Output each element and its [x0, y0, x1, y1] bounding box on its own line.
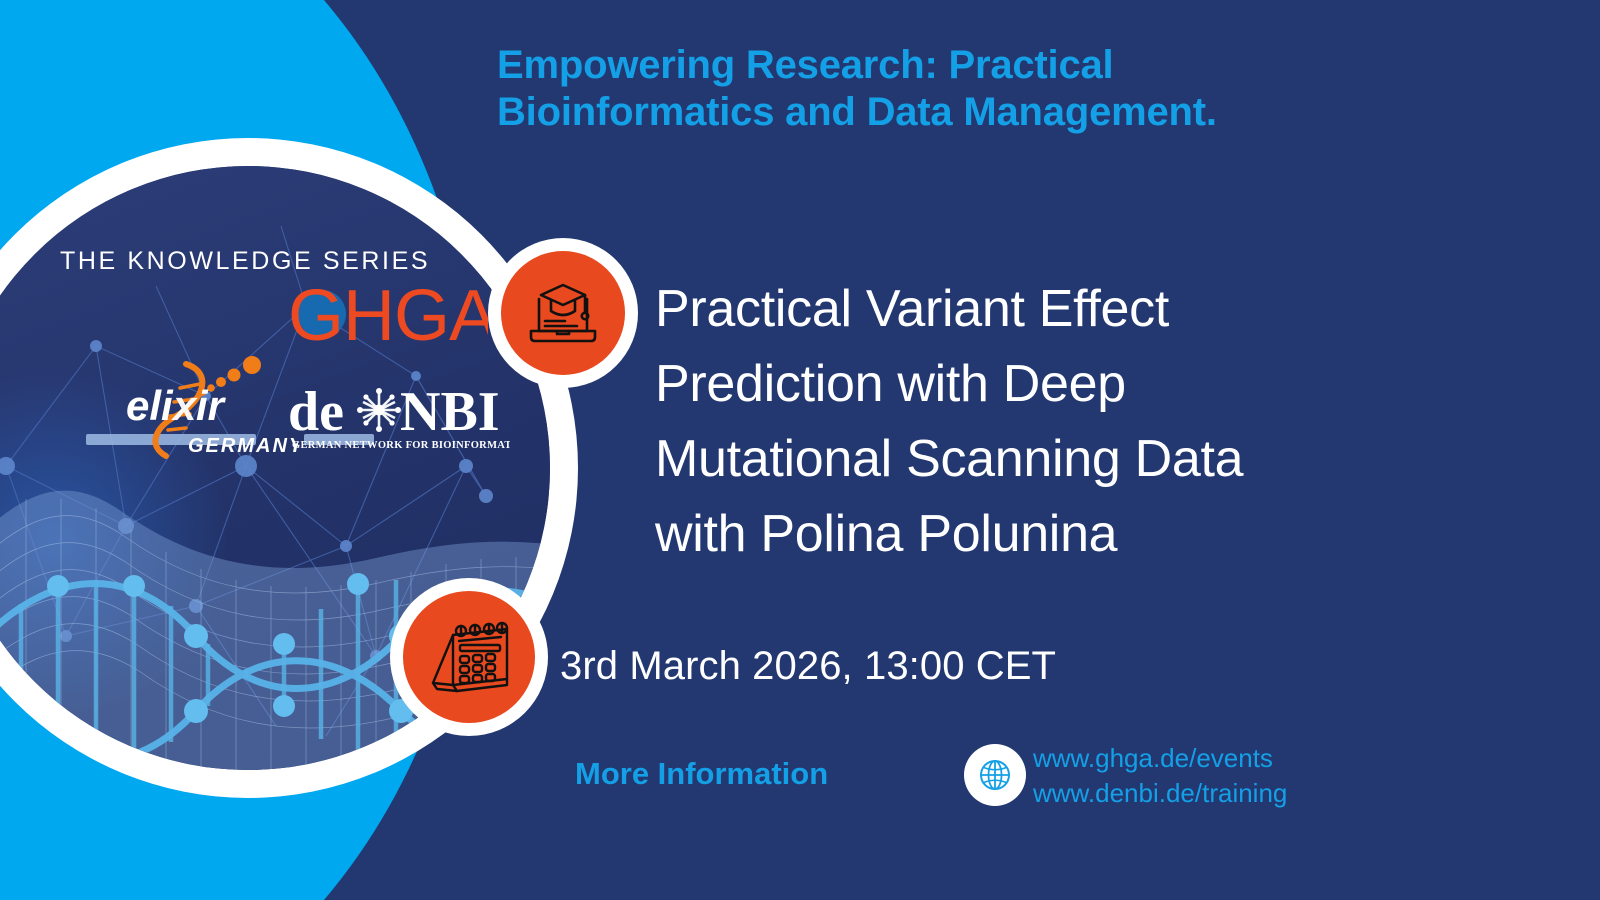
series-label: THE KNOWLEDGE SERIES — [60, 247, 430, 276]
denbi-logo: de NBI GERMAN NETWORK FOR BIOINFORMATICS… — [288, 378, 510, 458]
globe-icon — [977, 757, 1013, 793]
svg-text:GHGA: GHGA — [288, 278, 488, 356]
svg-text:GERMAN NETWORK FOR BIOINFORMAT: GERMAN NETWORK FOR BIOINFORMATICS INFRAS… — [292, 440, 510, 451]
event-title-line-1: Practical Variant Effect — [655, 272, 1575, 347]
svg-text:ir: ir — [196, 382, 227, 429]
svg-text:GERMANY: GERMANY — [188, 435, 298, 457]
event-title: Practical Variant Effect Prediction with… — [655, 272, 1575, 572]
calendar-badge-circle — [403, 591, 535, 723]
ghga-logo-svg: GHGA — [288, 278, 488, 356]
link-ghga-events[interactable]: www.ghga.de/events — [1033, 741, 1287, 776]
header-title-line-1: Empowering Research: Practical — [497, 42, 1557, 89]
header-title-line-2: Bioinformatics and Data Management. — [497, 89, 1557, 136]
ghga-logo: GHGA — [288, 278, 488, 356]
svg-text:de: de — [288, 381, 344, 443]
svg-text:NBI: NBI — [400, 381, 500, 443]
event-title-line-2: Prediction with Deep — [655, 347, 1575, 422]
elixir-logo-svg: eli ir x GERMANY — [118, 352, 298, 462]
elixir-germany-logo: eli ir x GERMANY — [118, 352, 298, 462]
event-date: 3rd March 2026, 13:00 CET — [560, 644, 1056, 689]
desk-calendar-icon — [423, 611, 515, 703]
svg-text:eli: eli — [126, 382, 174, 429]
elearning-badge-circle — [501, 251, 625, 375]
link-denbi-training[interactable]: www.denbi.de/training — [1033, 776, 1287, 811]
svg-text:x: x — [171, 382, 198, 429]
website-links: www.ghga.de/events www.denbi.de/training — [1033, 741, 1287, 810]
event-title-line-4: with Polina Polunina — [655, 497, 1575, 572]
globe-badge — [964, 744, 1026, 806]
calendar-badge — [390, 578, 548, 736]
elearning-badge — [488, 238, 638, 388]
header-title: Empowering Research: Practical Bioinform… — [497, 42, 1557, 136]
event-title-line-3: Mutational Scanning Data — [655, 422, 1575, 497]
laptop-graduation-cap-icon — [521, 271, 605, 355]
more-information-label: More Information — [575, 756, 828, 792]
denbi-logo-svg: de NBI GERMAN NETWORK FOR BIOINFORMATICS… — [288, 378, 510, 458]
event-poster: THE KNOWLEDGE SERIES GHGA eli ir x GERMA… — [0, 0, 1600, 900]
